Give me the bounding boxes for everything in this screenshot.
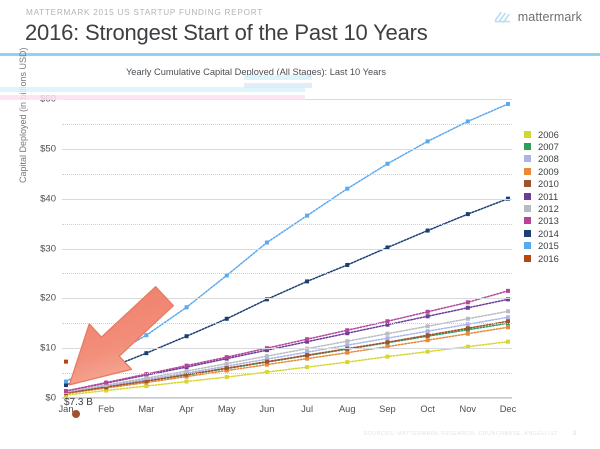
- data-point-marker: [426, 329, 430, 333]
- legend-item-2010[interactable]: 2010: [524, 178, 559, 190]
- data-point-marker: [466, 332, 470, 336]
- legend-item-label: 2012: [538, 203, 559, 214]
- legend-swatch-icon: [524, 131, 531, 138]
- legend-item-label: 2011: [538, 191, 558, 202]
- data-point-marker: [506, 309, 510, 313]
- data-point-marker: [426, 333, 430, 337]
- data-point-marker: [265, 241, 269, 245]
- slide-header: MATTERMARK 2015 US STARTUP FUNDING REPOR…: [0, 0, 600, 56]
- data-point-marker: [385, 332, 389, 336]
- legend-swatch-icon: [524, 143, 531, 150]
- legend-item-label: 2016: [538, 253, 559, 264]
- series-2012: [64, 309, 510, 394]
- x-axis-tick-label: Mar: [126, 404, 166, 414]
- data-point-marker: [64, 360, 68, 364]
- x-axis-tick-label: Aug: [327, 404, 367, 414]
- gridline-minor: [62, 373, 512, 374]
- legend-swatch-icon: [524, 230, 531, 237]
- legend-item-label: 2015: [538, 240, 559, 251]
- sources-note: SOURCES: MATTERMARK RESEARCH, CRUNCHBASE…: [364, 431, 558, 437]
- series-2010: [64, 319, 510, 395]
- data-point-marker: [225, 375, 229, 379]
- data-point-marker: [426, 314, 430, 318]
- data-point-marker: [225, 362, 229, 366]
- data-point-marker: [225, 366, 229, 370]
- data-point-marker: [144, 376, 148, 380]
- data-point-marker: [506, 289, 510, 293]
- series-2011: [64, 297, 510, 393]
- x-axis-tick-label: Apr: [167, 404, 207, 414]
- legend-swatch-icon: [524, 155, 531, 162]
- data-point-marker: [385, 355, 389, 359]
- data-point-marker: [64, 383, 68, 387]
- data-point-marker: [426, 350, 430, 354]
- data-point-marker: [506, 315, 510, 319]
- legend-swatch-icon: [524, 168, 531, 175]
- annotation-marker-dot: [72, 410, 80, 418]
- x-axis-tick-label: Dec: [488, 404, 528, 414]
- decorative-band: [0, 95, 305, 100]
- data-point-marker: [185, 334, 189, 338]
- decorative-band: [244, 75, 312, 80]
- x-axis-tick-label: May: [207, 404, 247, 414]
- data-point-marker: [345, 360, 349, 364]
- legend-item-2016[interactable]: 2016: [524, 252, 559, 264]
- legend-item-label: 2014: [538, 228, 559, 239]
- series-2013: [64, 289, 510, 393]
- gridline-minor: [62, 174, 512, 175]
- y-axis-label: Capital Deployed (in billions USD): [18, 47, 28, 183]
- data-point-marker: [265, 354, 269, 358]
- data-point-marker: [385, 336, 389, 340]
- data-point-marker: [144, 333, 148, 337]
- plot-area: Capital Deployed (in billions USD) $0$10…: [62, 99, 512, 398]
- legend-swatch-icon: [524, 193, 531, 200]
- page-number: 3: [572, 430, 576, 437]
- data-point-marker: [345, 351, 349, 355]
- series-line: [66, 199, 508, 385]
- series-line: [66, 104, 508, 382]
- legend-swatch-icon: [524, 242, 531, 249]
- series-line: [66, 291, 508, 391]
- legend-swatch-icon: [524, 255, 531, 262]
- data-point-marker: [426, 324, 430, 328]
- gridline-minor: [62, 323, 512, 324]
- x-axis-tick-label: Nov: [448, 404, 488, 414]
- decorative-band: [244, 83, 312, 88]
- series-line: [66, 342, 508, 395]
- y-axis-tick-label: $10: [16, 343, 56, 354]
- data-point-marker: [144, 351, 148, 355]
- data-point-marker: [345, 328, 349, 332]
- data-point-marker: [466, 306, 470, 310]
- series-2009: [64, 325, 510, 395]
- data-point-marker: [104, 381, 108, 385]
- data-point-marker: [506, 340, 510, 344]
- legend-item-2012[interactable]: 2012: [524, 202, 559, 214]
- data-point-marker: [64, 380, 68, 384]
- x-axis-line: [62, 397, 512, 398]
- brand-name: mattermark: [518, 10, 582, 24]
- data-point-marker: [305, 214, 309, 218]
- y-axis-tick-label: $20: [16, 293, 56, 304]
- gridline-major: [62, 348, 512, 349]
- y-axis-tick-label: $0: [16, 393, 56, 404]
- data-point-marker: [144, 384, 148, 388]
- data-point-marker: [385, 162, 389, 166]
- data-point-marker: [345, 187, 349, 191]
- legend-item-2014[interactable]: 2014: [524, 227, 559, 239]
- annotation-value-label: $7.3 B: [64, 397, 93, 408]
- legend-item-2007[interactable]: 2007: [524, 140, 559, 152]
- data-point-marker: [305, 365, 309, 369]
- gridline-major: [62, 398, 512, 399]
- data-point-marker: [104, 356, 108, 360]
- gridline-major: [62, 249, 512, 250]
- y-axis-tick-label: $30: [16, 243, 56, 254]
- data-point-marker: [104, 367, 108, 371]
- legend-item-label: 2009: [538, 166, 559, 177]
- data-point-marker: [506, 102, 510, 106]
- chart-container: Yearly Cumulative Capital Deployed (All …: [0, 56, 600, 426]
- legend-item-2009[interactable]: 2009: [524, 165, 559, 177]
- y-axis-tick-label: $50: [16, 143, 56, 154]
- gridline-major: [62, 149, 512, 150]
- data-point-marker: [305, 337, 309, 341]
- legend-item-label: 2013: [538, 215, 559, 226]
- report-eyebrow: MATTERMARK 2015 US STARTUP FUNDING REPOR…: [26, 8, 263, 17]
- data-point-marker: [225, 355, 229, 359]
- gridline-minor: [62, 273, 512, 274]
- gridline-minor: [62, 224, 512, 225]
- legend-item-label: 2006: [538, 129, 559, 140]
- legend-item-label: 2007: [538, 141, 559, 152]
- legend-item-2011[interactable]: 2011: [524, 190, 559, 202]
- legend-item-label: 2010: [538, 178, 559, 189]
- gridline-major: [62, 298, 512, 299]
- data-point-marker: [185, 364, 189, 368]
- data-point-marker: [466, 119, 470, 123]
- legend-item-2008[interactable]: 2008: [524, 153, 559, 165]
- legend-swatch-icon: [524, 217, 531, 224]
- legend-item-2015[interactable]: 2015: [524, 240, 559, 252]
- legend-item-2006[interactable]: 2006: [524, 128, 559, 140]
- mattermark-stripes-logo-icon: [494, 9, 512, 24]
- data-point-marker: [305, 353, 309, 357]
- data-point-marker: [426, 139, 430, 143]
- data-point-marker: [265, 360, 269, 364]
- gridline-minor: [62, 124, 512, 125]
- x-axis-tick-label: Jun: [247, 404, 287, 414]
- data-point-marker: [426, 229, 430, 233]
- legend-swatch-icon: [524, 205, 531, 212]
- x-axis-tick-label: Jul: [287, 404, 327, 414]
- slide-footer: SOURCES: MATTERMARK RESEARCH, CRUNCHBASE…: [0, 426, 600, 449]
- data-point-marker: [466, 300, 470, 304]
- data-point-marker: [466, 326, 470, 330]
- x-axis-tick-label: Oct: [408, 404, 448, 414]
- data-point-marker: [305, 279, 309, 283]
- data-point-marker: [466, 317, 470, 321]
- data-point-marker: [506, 325, 510, 329]
- data-point-marker: [426, 338, 430, 342]
- data-point-marker: [225, 317, 229, 321]
- series-2015: [64, 102, 510, 384]
- legend-item-2013[interactable]: 2013: [524, 215, 559, 227]
- data-point-marker: [185, 380, 189, 384]
- data-point-marker: [345, 343, 349, 347]
- data-point-marker: [64, 389, 68, 393]
- data-point-marker: [466, 212, 470, 216]
- data-point-marker: [345, 263, 349, 267]
- data-point-marker: [426, 310, 430, 314]
- data-point-marker: [305, 357, 309, 361]
- gridline-major: [62, 199, 512, 200]
- brand-logo: mattermark: [494, 9, 582, 24]
- data-point-marker: [345, 339, 349, 343]
- data-point-marker: [185, 305, 189, 309]
- x-axis-tick-label: Sep: [367, 404, 407, 414]
- chart-legend: 2006200720082009201020112012201320142015…: [524, 128, 559, 264]
- legend-item-label: 2008: [538, 153, 559, 164]
- series-2016: [64, 360, 68, 364]
- y-axis-tick-label: $40: [16, 193, 56, 204]
- page-title: 2016: Strongest Start of the Past 10 Yea…: [25, 20, 428, 46]
- data-point-marker: [385, 340, 389, 344]
- legend-swatch-icon: [524, 180, 531, 187]
